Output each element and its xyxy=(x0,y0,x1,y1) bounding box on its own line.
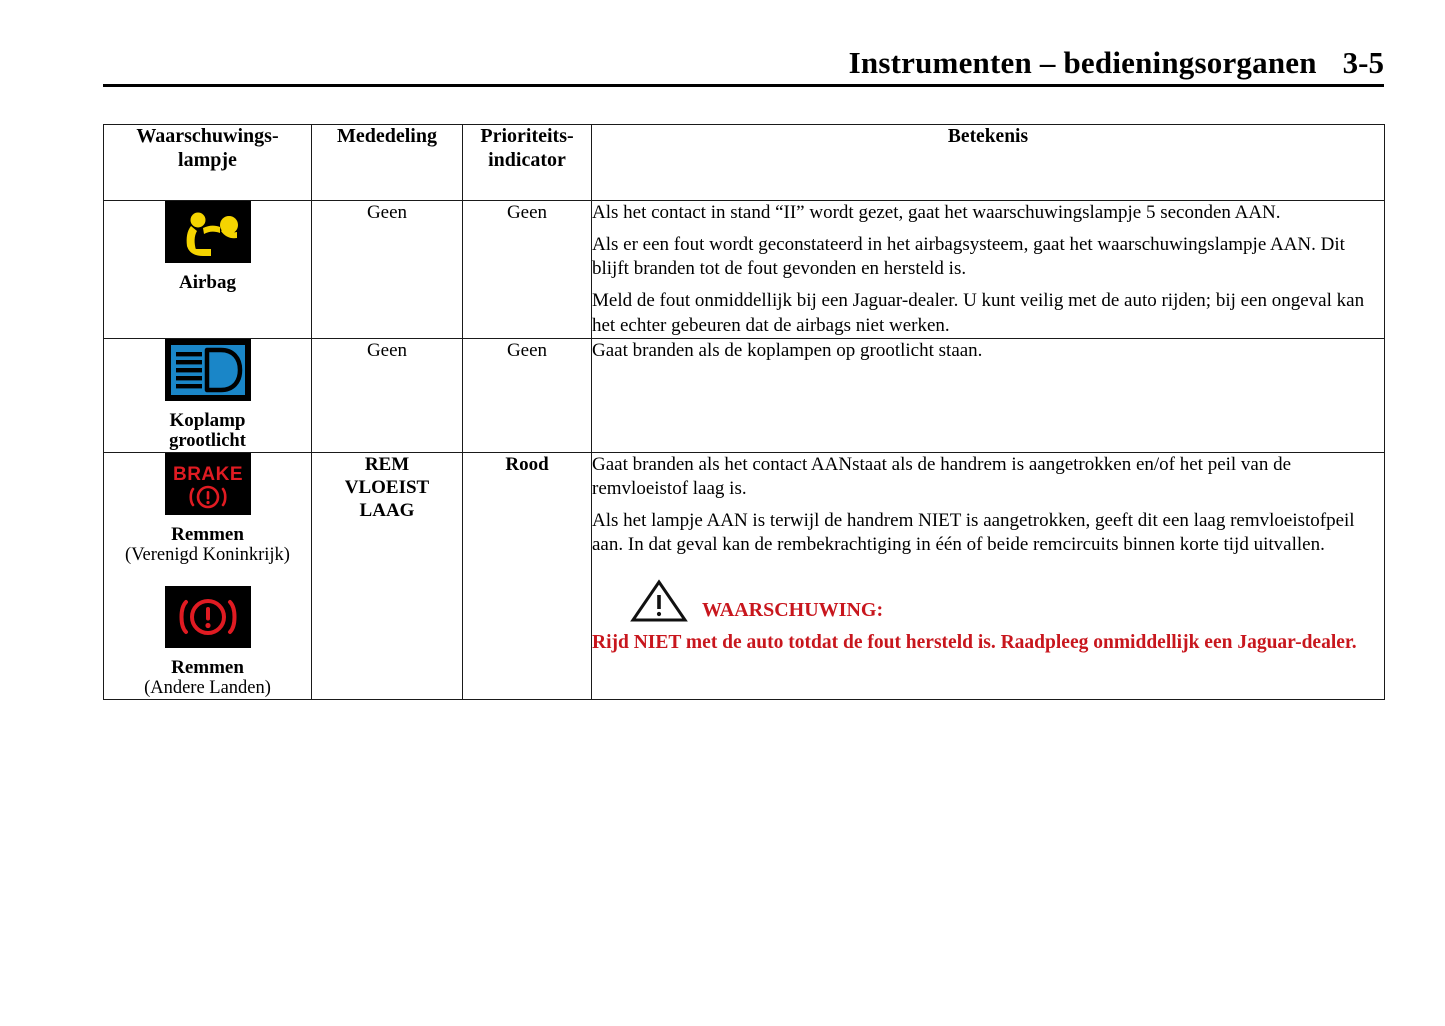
lamp-caption-main: Airbag xyxy=(179,272,236,293)
meaning-cell-high-beam: Gaat branden als de koplampen op grootli… xyxy=(592,338,1385,452)
message-cell-airbag: Geen xyxy=(312,201,463,339)
meaning-paragraph: Gaat branden als de koplampen op grootli… xyxy=(592,339,1384,363)
message-line: REM xyxy=(365,454,409,475)
message-cell-brake: REM VLOEIST LAAG xyxy=(312,452,463,699)
lamp-block: BRAKE Remmen (Verenigd Koni xyxy=(104,453,311,566)
lamp-cell-airbag: Airbag xyxy=(104,201,312,339)
lamp-caption-sub: grootlicht xyxy=(104,431,311,452)
meaning-paragraph: Als het lampje AAN is terwijl de handrem… xyxy=(592,509,1384,557)
meaning-paragraph: Gaat branden als het contact AANstaat al… xyxy=(592,453,1384,501)
high-beam-headlamp-icon xyxy=(165,339,251,401)
warning-lamps-table-wrapper: Waarschuwings- lampje Mededeling Priorit… xyxy=(103,124,1384,700)
brake-warning-uk-icon: BRAKE xyxy=(165,453,251,515)
svg-text:BRAKE: BRAKE xyxy=(172,464,242,485)
lamp-block: Remmen (Andere Landen) xyxy=(104,586,311,699)
lamp-caption-main: Remmen xyxy=(171,657,244,678)
column-header-priority: Prioriteits- indicator xyxy=(463,125,592,201)
column-header-warning-lamp: Waarschuwings- lampje xyxy=(104,125,312,201)
lamp-caption: Airbag xyxy=(104,272,311,293)
column-header-warning-lamp-line2: lampje xyxy=(178,149,237,171)
meaning-paragraph: Als het contact in stand “II” wordt geze… xyxy=(592,201,1384,225)
meaning-paragraph: Meld de fout onmiddellijk bij een Jaguar… xyxy=(592,289,1384,337)
message-line: LAAG xyxy=(360,500,415,521)
priority-cell-high-beam: Geen xyxy=(463,338,592,452)
meaning-paragraph: Als er een fout wordt geconstateerd in h… xyxy=(592,233,1384,281)
warning-block: WAARSCHUWING: Rijd NIET met de auto totd… xyxy=(592,579,1384,656)
page-number: 3-5 xyxy=(1343,47,1384,78)
lamp-caption: Remmen (Andere Landen) xyxy=(104,657,311,699)
lamp-cell-high-beam: Koplamp grootlicht xyxy=(104,338,312,452)
table-header-row: Waarschuwings- lampje Mededeling Priorit… xyxy=(104,125,1385,201)
lamp-caption: Koplamp grootlicht xyxy=(104,410,311,452)
table-row: Airbag Geen Geen Als het contact in stan… xyxy=(104,201,1385,339)
warning-heading-row: WAARSCHUWING: xyxy=(630,579,1384,623)
warning-heading: WAARSCHUWING: xyxy=(702,600,883,623)
meaning-cell-airbag: Als het contact in stand “II” wordt geze… xyxy=(592,201,1385,339)
airbag-icon xyxy=(165,201,251,263)
table-row: BRAKE Remmen (Verenigd Koni xyxy=(104,452,1385,699)
table-row: Koplamp grootlicht Geen Geen Gaat brande… xyxy=(104,338,1385,452)
lamp-caption: Remmen (Verenigd Koninkrijk) xyxy=(104,524,311,566)
column-header-message: Mededeling xyxy=(312,125,463,201)
lamp-caption-main: Koplamp xyxy=(169,410,245,431)
warning-body: Rijd NIET met de auto totdat de fout her… xyxy=(592,631,1384,656)
priority-cell-airbag: Geen xyxy=(463,201,592,339)
column-header-priority-line1: Prioriteits- xyxy=(480,125,573,147)
page-title: Instrumenten – bedieningsorganen xyxy=(849,47,1317,78)
lamp-caption-sub: (Andere Landen) xyxy=(104,678,311,699)
message-line: VLOEIST xyxy=(345,477,429,498)
column-header-priority-line2: indicator xyxy=(488,149,566,171)
warning-lamps-table: Waarschuwings- lampje Mededeling Priorit… xyxy=(103,124,1385,700)
brake-warning-other-icon xyxy=(165,586,251,648)
column-header-meaning: Betekenis xyxy=(592,125,1385,201)
table-body: Airbag Geen Geen Als het contact in stan… xyxy=(104,201,1385,700)
lamp-caption-main: Remmen xyxy=(171,524,244,545)
message-cell-high-beam: Geen xyxy=(312,338,463,452)
table-header: Waarschuwings- lampje Mededeling Priorit… xyxy=(104,125,1385,201)
lamp-caption-sub: (Verenigd Koninkrijk) xyxy=(104,545,311,566)
column-header-warning-lamp-line1: Waarschuwings- xyxy=(136,125,278,147)
page-header: Instrumenten – bedieningsorganen 3-5 xyxy=(103,22,1384,78)
lamp-cell-brake: BRAKE Remmen (Verenigd Koni xyxy=(104,452,312,699)
header-divider xyxy=(103,84,1384,87)
warning-triangle-icon xyxy=(630,579,688,623)
lamp-block: Koplamp grootlicht xyxy=(104,339,311,452)
priority-cell-brake: Rood xyxy=(463,452,592,699)
lamp-block: Airbag xyxy=(104,201,311,293)
meaning-cell-brake: Gaat branden als het contact AANstaat al… xyxy=(592,452,1385,699)
